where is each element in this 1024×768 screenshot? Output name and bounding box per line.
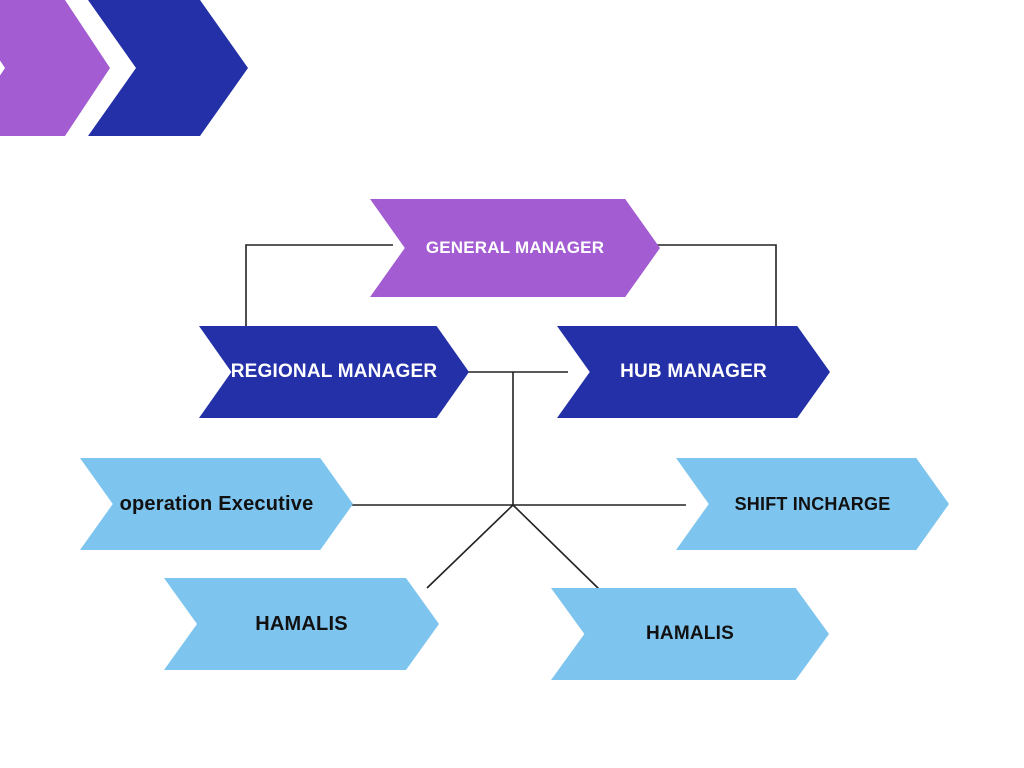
node-regional-manager[interactable]: REGIONAL MANAGER bbox=[199, 326, 469, 418]
org-chart-connectors bbox=[0, 0, 1024, 768]
node-regional-manager-label: REGIONAL MANAGER bbox=[231, 361, 438, 383]
node-hamalis-left-label: HAMALIS bbox=[255, 613, 348, 636]
node-operation-executive-label: operation Executive bbox=[120, 493, 314, 516]
node-shift-incharge-label: SHIFT INCHARGE bbox=[735, 494, 891, 515]
node-hamalis-right-label: HAMALIS bbox=[646, 623, 734, 645]
node-general-manager-label: GENERAL MANAGER bbox=[426, 238, 604, 258]
node-hub-manager[interactable]: HUB MANAGER bbox=[557, 326, 830, 418]
node-operation-executive[interactable]: operation Executive bbox=[80, 458, 353, 550]
node-hamalis-left[interactable]: HAMALIS bbox=[164, 578, 439, 670]
node-hamalis-right[interactable]: HAMALIS bbox=[551, 588, 829, 680]
node-shift-incharge[interactable]: SHIFT INCHARGE bbox=[676, 458, 949, 550]
node-general-manager[interactable]: GENERAL MANAGER bbox=[370, 199, 660, 297]
slide-canvas: GENERAL MANAGER REGIONAL MANAGER HUB MAN… bbox=[0, 0, 1024, 768]
node-hub-manager-label: HUB MANAGER bbox=[620, 361, 767, 383]
